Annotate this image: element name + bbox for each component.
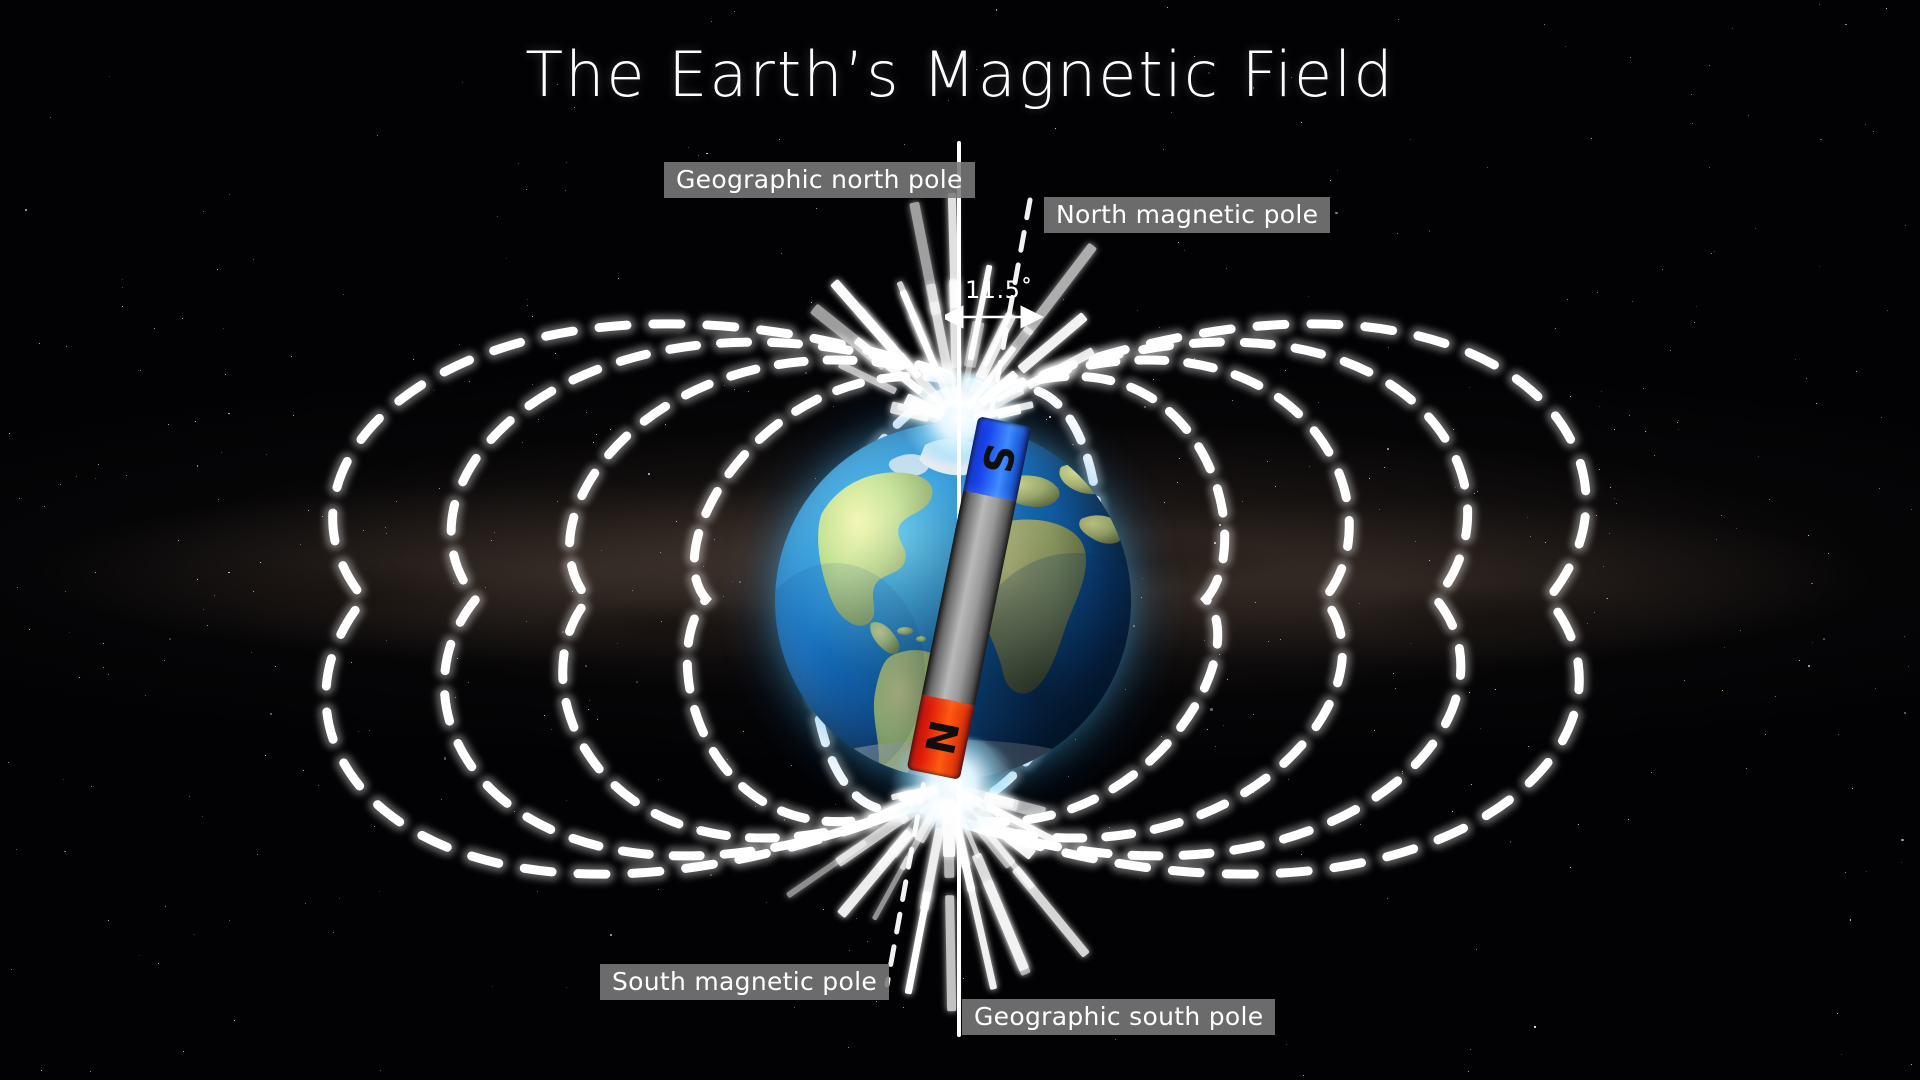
label-north-magnetic-pole[interactable]: North magnetic pole	[1044, 197, 1330, 233]
label-geographic-north-pole[interactable]: Geographic north pole	[664, 162, 975, 198]
tilt-angle-arrow	[945, 300, 1055, 334]
label-geographic-south-pole[interactable]: Geographic south pole	[962, 999, 1275, 1035]
label-south-magnetic-pole[interactable]: South magnetic pole	[600, 964, 889, 1000]
page-title: The Earth’s Magnetic Field	[0, 38, 1920, 111]
diagram-canvas: The Earth’s Magnetic Field 11.5˚ Geograp…	[0, 0, 1920, 1080]
